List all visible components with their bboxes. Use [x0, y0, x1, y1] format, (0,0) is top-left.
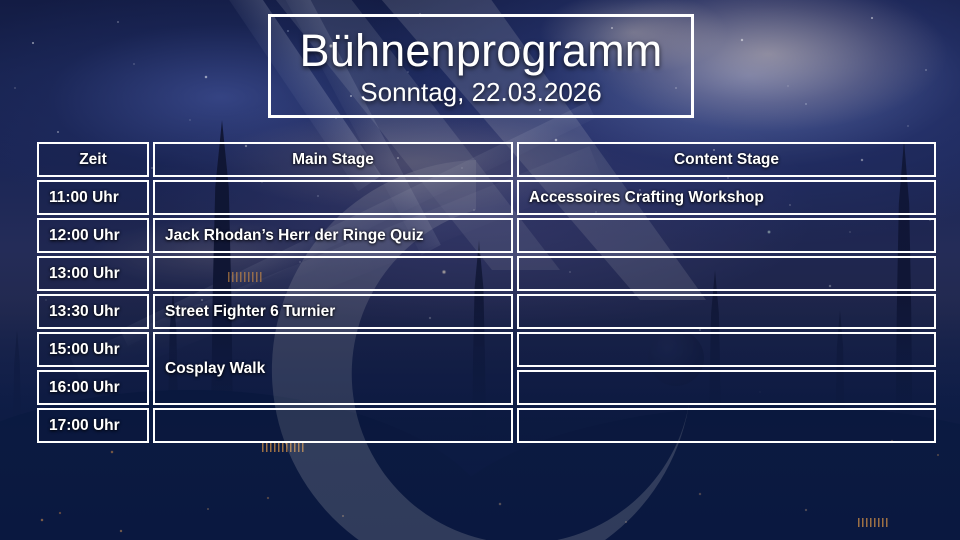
table-row: 15:00 Uhr Cosplay Walk — [37, 332, 936, 367]
table-row: 11:00 Uhr Accessoires Crafting Workshop — [37, 180, 936, 215]
column-header-content-stage: Content Stage — [517, 142, 936, 177]
table-row: 17:00 Uhr — [37, 408, 936, 443]
cell-main-stage — [153, 408, 513, 443]
page-title: Bühnenprogramm — [300, 26, 663, 76]
cell-content-stage — [517, 256, 936, 291]
cell-content-stage — [517, 294, 936, 329]
title-plaque: Bühnenprogramm Sonntag, 22.03.2026 — [268, 14, 694, 118]
table-row: 13:30 Uhr Street Fighter 6 Turnier — [37, 294, 936, 329]
cell-time: 15:00 Uhr — [37, 332, 149, 367]
cell-main-stage: Jack Rhodan’s Herr der Ringe Quiz — [153, 218, 513, 253]
table-header-row: Zeit Main Stage Content Stage — [37, 142, 936, 177]
table-row: 12:00 Uhr Jack Rhodan’s Herr der Ringe Q… — [37, 218, 936, 253]
cell-content-stage — [517, 332, 936, 367]
table-row: 13:00 Uhr — [37, 256, 936, 291]
cell-main-stage — [153, 180, 513, 215]
cell-main-stage: Street Fighter 6 Turnier — [153, 294, 513, 329]
column-header-zeit: Zeit — [37, 142, 149, 177]
poster-canvas: Bühnenprogramm Sonntag, 22.03.2026 Zeit … — [0, 0, 960, 540]
cell-main-stage — [153, 256, 513, 291]
cell-time: 12:00 Uhr — [37, 218, 149, 253]
cell-main-stage-merged: Cosplay Walk — [153, 332, 513, 405]
cell-time: 17:00 Uhr — [37, 408, 149, 443]
cell-content-stage — [517, 218, 936, 253]
cell-content-stage — [517, 408, 936, 443]
page-subtitle: Sonntag, 22.03.2026 — [360, 77, 601, 107]
cell-time: 13:30 Uhr — [37, 294, 149, 329]
cell-time: 13:00 Uhr — [37, 256, 149, 291]
column-header-main-stage: Main Stage — [153, 142, 513, 177]
cell-content-stage: Accessoires Crafting Workshop — [517, 180, 936, 215]
cell-time: 11:00 Uhr — [37, 180, 149, 215]
cell-content-stage — [517, 370, 936, 405]
cell-time: 16:00 Uhr — [37, 370, 149, 405]
stage-schedule-table: Zeit Main Stage Content Stage 11:00 Uhr … — [33, 139, 940, 446]
